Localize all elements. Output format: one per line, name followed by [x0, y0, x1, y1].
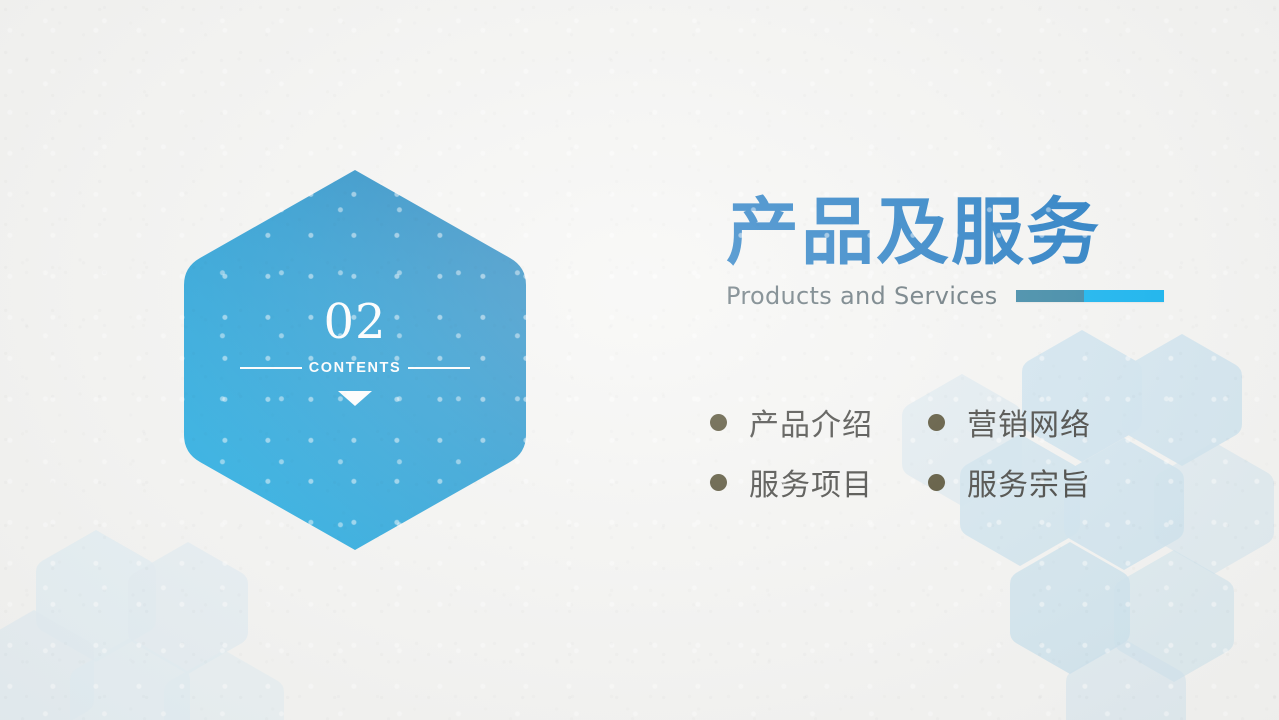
- accent-bar: [1016, 290, 1164, 302]
- section-number-hexagon: 02 CONTENTS: [182, 166, 528, 554]
- rule-right: [408, 367, 470, 369]
- hexagon-cluster-bottom-right: [902, 330, 1274, 720]
- presentation-slide: 02 CONTENTS 产品及服务 Products and Services …: [0, 0, 1279, 720]
- list-item[interactable]: 服务项目: [710, 460, 928, 504]
- list-item-label: 产品介绍: [749, 400, 873, 444]
- list-item-label: 服务宗旨: [967, 460, 1091, 504]
- rule-left: [240, 367, 302, 369]
- title-block: 产品及服务 Products and Services: [726, 196, 1164, 310]
- bullet-dot-icon: [928, 414, 945, 431]
- contents-label-row: CONTENTS: [240, 360, 470, 376]
- list-item-label: 营销网络: [967, 400, 1091, 444]
- bullet-dot-icon: [710, 414, 727, 431]
- bullet-dot-icon: [928, 474, 945, 491]
- accent-bar-segment-left: [1016, 290, 1084, 302]
- accent-bar-segment-right: [1084, 290, 1164, 302]
- list-item[interactable]: 产品介绍: [710, 400, 928, 444]
- subtitle-row: Products and Services: [726, 282, 1164, 310]
- hexagon-cluster-bottom-left: [0, 530, 284, 720]
- triangle-down-icon: [338, 391, 372, 406]
- bullet-dot-icon: [710, 474, 727, 491]
- page-subtitle: Products and Services: [726, 282, 998, 310]
- list-item[interactable]: 服务宗旨: [928, 460, 1091, 504]
- page-title: 产品及服务: [726, 196, 1164, 270]
- list-item-label: 服务项目: [749, 460, 873, 504]
- agenda-item-list: 产品介绍 营销网络 服务项目 服务宗旨: [710, 392, 1091, 512]
- hexagon-label-group: 02 CONTENTS: [182, 166, 528, 554]
- contents-label: CONTENTS: [302, 360, 409, 376]
- list-item[interactable]: 营销网络: [928, 400, 1091, 444]
- section-number: 02: [323, 298, 386, 346]
